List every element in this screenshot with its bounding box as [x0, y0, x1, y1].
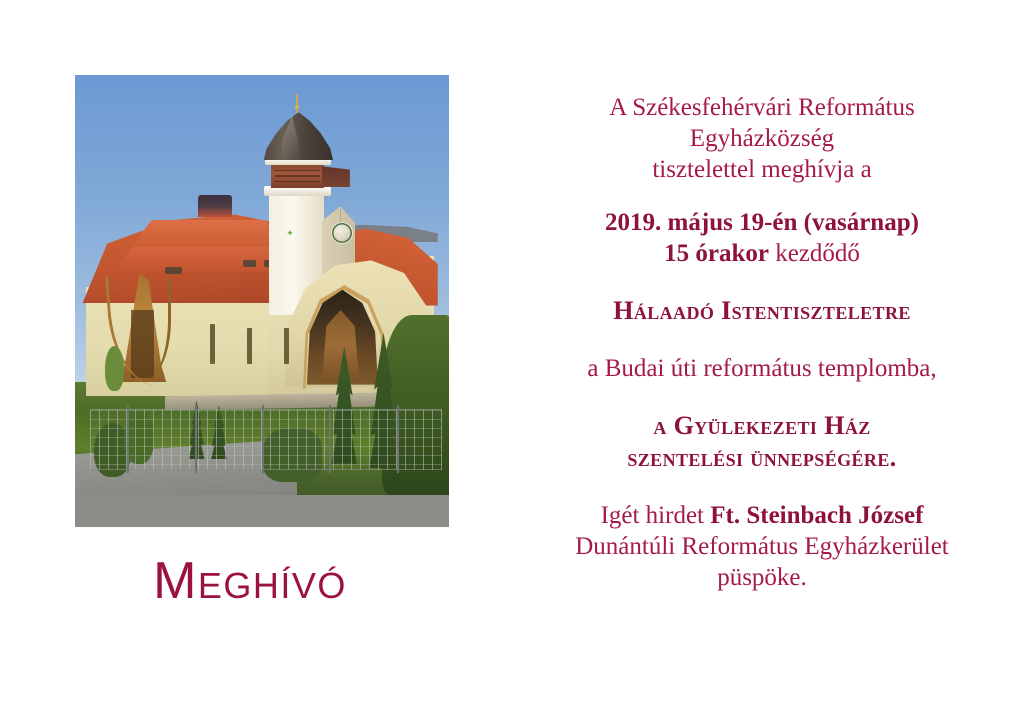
spire-rod: [296, 94, 297, 113]
belfry-louvre-2: [275, 175, 320, 177]
preacher-title-line-1: Dunántúli Református Egyházkerület: [514, 531, 1010, 562]
roof-dormer-2: [243, 260, 256, 267]
wall-window-slit-3: [284, 328, 288, 364]
fence-post-4: [329, 405, 331, 473]
page-title: Meghívó: [0, 555, 500, 607]
church-photo-frame: ✦: [68, 68, 456, 534]
fence-post-5: [397, 405, 399, 473]
preacher-name: Ft. Steinbach József: [710, 502, 923, 529]
fence-post-2: [195, 405, 197, 473]
wire-fence: [90, 409, 442, 470]
wall-window-slit-1: [210, 324, 215, 365]
tower-cornice: [264, 186, 331, 196]
fence-post-1: [127, 405, 129, 473]
occasion-line-2: szentelési ünnepségére.: [514, 442, 1010, 474]
clock-bracket: [340, 208, 341, 222]
spire-orb: [295, 105, 299, 109]
spacer-5: [514, 474, 1010, 500]
event-time: 15 órakor: [664, 240, 769, 267]
tower-emblem: ✦: [286, 229, 297, 243]
event-date: 2019. május 19-én (vasárnap): [514, 207, 1010, 238]
spacer-1: [514, 185, 1010, 207]
host-line-3: tisztelettel meghívja a: [514, 154, 1010, 185]
fence-post-3: [262, 405, 264, 473]
belfry-louvre-3: [275, 181, 320, 183]
preacher-prefix: Igét hirdet: [601, 502, 711, 529]
belfry-shadow-side: [322, 166, 350, 187]
invitation-page: ✦: [0, 0, 1024, 721]
photo-scene: ✦: [75, 75, 449, 527]
spacer-4: [514, 384, 1010, 410]
roof-lantern: [198, 195, 232, 218]
event-time-suffix: kezdődő: [769, 240, 860, 267]
host-line-1: A Székesfehérvári Református: [514, 92, 1010, 123]
occasion-line-1: a Gyülekezeti Ház: [514, 410, 1010, 442]
left-column: ✦: [0, 0, 500, 721]
event-time-line: 15 órakor kezdődő: [514, 238, 1010, 269]
spacer-3: [514, 327, 1010, 353]
right-column: A Székesfehérvári Református Egyházközsé…: [500, 0, 1024, 721]
preacher-line: Igét hirdet Ft. Steinbach József: [514, 500, 1010, 531]
invitation-text-block: A Székesfehérvári Református Egyházközsé…: [514, 92, 1010, 593]
road-foreground: [75, 495, 449, 527]
preacher-title-line-2: püspöke.: [514, 562, 1010, 593]
church-photo: ✦: [75, 75, 449, 527]
wall-window-slit-2: [247, 328, 251, 364]
service-heading: Hálaadó Istentiszteletre: [514, 295, 1010, 327]
spacer-2: [514, 269, 1010, 295]
belfry-louvre-1: [275, 170, 320, 172]
host-line-2: Egyházközség: [514, 123, 1010, 154]
location-line: a Budai úti református templomba,: [514, 353, 1010, 384]
tower-clock: [331, 222, 353, 244]
bush-sapling: [105, 346, 124, 391]
